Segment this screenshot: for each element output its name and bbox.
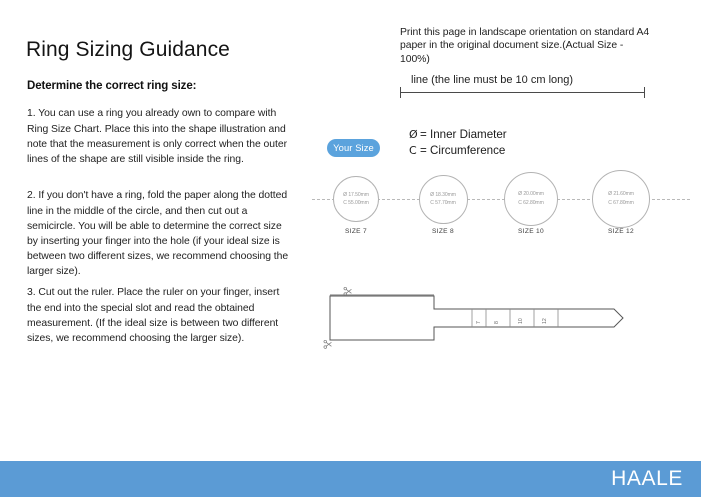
ring-size-circle: Ø 21.60mmC 67.80mm — [592, 170, 650, 228]
instruction-step-1: 1. You can use a ring you already own to… — [27, 106, 292, 167]
ring-diameter-value: Ø 20.00mm — [505, 191, 557, 198]
ruler-tick-label: 10 — [518, 318, 524, 324]
ruler-outline — [330, 296, 623, 340]
ring-circumference-value: C 55.00mm — [334, 200, 378, 207]
circumference-legend-text: = Circumference — [420, 144, 505, 157]
print-notice-text: Print this page in landscape orientation… — [400, 26, 652, 66]
calibration-line — [400, 86, 645, 99]
instructions-heading: Determine the correct ring size: — [27, 80, 196, 92]
calibration-line-cap-right — [644, 87, 645, 98]
ring-diameter-value: Ø 17.50mm — [334, 192, 378, 199]
ruler-tick-label: 12 — [542, 318, 548, 324]
diameter-symbol: Ø — [409, 128, 420, 141]
ring-size-label: SIZE 10 — [491, 228, 571, 235]
legend-inner-diameter: Ø= Inner Diameter — [409, 128, 507, 141]
ring-diameter-value: Ø 18.30mm — [420, 192, 467, 199]
footer-bar: HAALE — [0, 461, 701, 497]
scissors-icon-top — [344, 287, 352, 295]
diameter-legend-text: = Inner Diameter — [420, 128, 507, 141]
circumference-symbol: C — [409, 144, 420, 157]
document-page: Ring Sizing Guidance Determine the corre… — [0, 0, 701, 497]
calibration-line-bar — [400, 92, 645, 93]
ring-diameter-value: Ø 21.60mm — [593, 191, 649, 198]
ring-size-label: SIZE 8 — [403, 228, 483, 235]
legend-circumference: C= Circumference — [409, 144, 505, 157]
ruler-tick-label: 7 — [476, 321, 482, 324]
ring-size-label: SIZE 7 — [316, 228, 396, 235]
ring-circumference-value: C 62.80mm — [505, 200, 557, 207]
instruction-step-2: 2. If you don't have a ring, fold the pa… — [27, 188, 292, 279]
ruler-tick-label: 8 — [494, 321, 500, 324]
ring-size-circle: Ø 20.00mmC 62.80mm — [504, 172, 558, 226]
ring-size-circle: Ø 18.30mmC 57.70mm — [419, 175, 468, 224]
your-size-badge: Your Size — [327, 139, 380, 157]
instruction-step-3: 3. Cut out the ruler. Place the ruler on… — [27, 285, 292, 346]
ring-size-label: SIZE 12 — [581, 228, 661, 235]
ring-circumference-value: C 57.70mm — [420, 200, 467, 207]
calibration-line-label: line (the line must be 10 cm long) — [411, 74, 573, 86]
page-title: Ring Sizing Guidance — [26, 38, 230, 62]
ring-size-circle: Ø 17.50mmC 55.00mm — [333, 176, 379, 222]
ring-size-chart: Ø 17.50mmC 55.00mmSIZE 7Ø 18.30mmC 57.70… — [312, 165, 690, 245]
ring-circumference-value: C 67.80mm — [593, 200, 649, 207]
ruler-cutout-figure: 7 8 10 12 — [318, 278, 638, 356]
scissors-icon-bottom — [324, 340, 332, 348]
brand-name: HAALE — [611, 467, 683, 491]
